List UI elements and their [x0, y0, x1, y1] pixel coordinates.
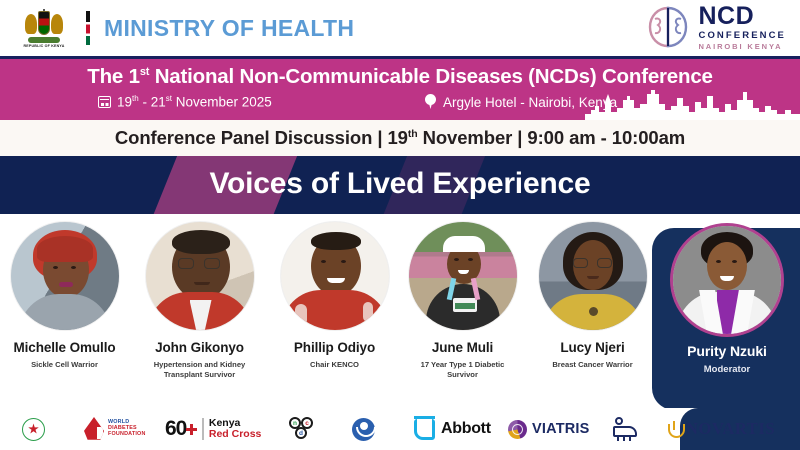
- panelist-card[interactable]: Phillip Odiyo Chair KENCO: [272, 222, 397, 370]
- session-label-ordinal: th: [408, 128, 418, 140]
- panelist-role: Chair KENCO: [272, 360, 397, 370]
- avatar: [673, 226, 781, 334]
- panelist-name: Phillip Odiyo: [272, 340, 397, 355]
- panelist-role: Hypertension and Kidney Transplant Survi…: [137, 360, 262, 381]
- panelists-list: Michelle Omullo Sickle Cell Warrior: [0, 214, 800, 410]
- wdf-wordmark: WORLD DIABETES FOUNDATION: [108, 420, 146, 437]
- avatar: [539, 222, 647, 330]
- avatar: [281, 222, 389, 330]
- panelist-card[interactable]: John Gikonyo Hypertension and Kidney Tra…: [137, 222, 262, 381]
- panelists-section: Michelle Omullo Sickle Cell Warrior: [0, 214, 800, 410]
- panelist-card[interactable]: Lucy Njeri Breast Cancer Warrior: [530, 222, 655, 370]
- shield-icon: [38, 11, 50, 35]
- abbott-wordmark: Abbott: [441, 420, 491, 438]
- blood-drop-icon: [84, 417, 104, 441]
- ncd-conference-logo: NCD CONFERENCE NAIROBI KENYA: [645, 4, 786, 50]
- kenya-red-cross-anniversary: 60: [165, 417, 186, 441]
- sponsor-footer: WORLD DIABETES FOUNDATION 60 Kenya Red C…: [0, 408, 800, 450]
- panelist-role: 17 Year Type 1 Diabetic Survivor: [400, 360, 525, 381]
- ncd-logo-location: NAIROBI KENYA: [698, 43, 786, 51]
- calendar-icon: [98, 96, 111, 108]
- abbott-icon: [414, 419, 435, 440]
- date-month-year: November 2025: [172, 95, 272, 110]
- viatris-globe-icon: [508, 420, 527, 439]
- krc-line2: Red Cross: [209, 429, 262, 440]
- kenya-coat-of-arms: REPUBLIC OF KENYA: [16, 9, 72, 48]
- panelist-role: Breast Cancer Warrior: [530, 360, 655, 370]
- session-label-post: November | 9:00 am - 10:00am: [418, 127, 686, 148]
- kenya-flag-bar-icon: [86, 11, 90, 45]
- ncda-letter-d: d: [295, 427, 307, 439]
- sponsor-logos: WORLD DIABETES FOUNDATION 60 Kenya Red C…: [0, 408, 800, 450]
- who-icon: [352, 418, 375, 441]
- conference-title-post: National Non-Communicable Diseases (NCDs…: [149, 65, 713, 88]
- portrait-michelle: [11, 222, 119, 330]
- ncd-logo-sub: CONFERENCE: [698, 31, 786, 41]
- session-label: Conference Panel Discussion | 19th Novem…: [115, 127, 685, 149]
- session-label-pre: Conference Panel Discussion | 19: [115, 127, 408, 148]
- moh-seal-icon: [22, 418, 45, 441]
- conference-poster: REPUBLIC OF KENYA MINISTRY OF HEALTH NCD…: [0, 0, 800, 450]
- figure-icon: [612, 417, 638, 441]
- avatar: [11, 222, 119, 330]
- coat-base-icon: [28, 37, 60, 43]
- sponsor-viatris[interactable]: VIATRIS: [508, 420, 590, 439]
- conference-title-pre: The 1: [87, 65, 140, 88]
- conference-banner: The 1st National Non-Communicable Diseas…: [0, 56, 800, 120]
- coat-of-arms-caption: REPUBLIC OF KENYA: [23, 44, 64, 48]
- portrait-john: [146, 222, 254, 330]
- ncd-alliance-icon: n c d: [288, 417, 318, 441]
- viatris-wordmark: VIATRIS: [532, 421, 590, 437]
- panelist-role: Sickle Cell Warrior: [2, 360, 127, 370]
- figure-head-icon: [615, 417, 623, 425]
- sponsor-abbott[interactable]: Abbott: [414, 419, 491, 440]
- ncd-logo-main: NCD: [698, 4, 786, 29]
- brain-icon: [645, 5, 691, 49]
- date-start-ordinal: th: [132, 94, 139, 103]
- coat-of-arms-icon: [22, 9, 66, 43]
- panelist-name: Lucy Njeri: [530, 340, 655, 355]
- poster-header: REPUBLIC OF KENYA MINISTRY OF HEALTH NCD…: [0, 0, 800, 56]
- portrait-june: [409, 222, 517, 330]
- panelist-name: John Gikonyo: [137, 340, 262, 355]
- sponsor-novartis[interactable]: NOVARTIS: [668, 419, 775, 439]
- sponsor-world-diabetes-foundation[interactable]: WORLD DIABETES FOUNDATION: [84, 417, 146, 441]
- date-separator: - 21: [139, 95, 166, 110]
- moderator-name: Purity Nzuki: [663, 343, 791, 359]
- lion-left-icon: [25, 14, 37, 34]
- novartis-wordmark: NOVARTIS: [686, 419, 775, 439]
- conference-dates-text: 19th - 21st November 2025: [117, 94, 272, 110]
- sponsor-moh[interactable]: [22, 418, 45, 441]
- panelist-name: June Muli: [400, 340, 525, 355]
- banner-top-rule: [0, 56, 800, 59]
- page-title: Voices of Lived Experience: [0, 167, 800, 201]
- portrait-phillip: [281, 222, 389, 330]
- panelist-name: Michelle Omullo: [2, 340, 127, 355]
- session-strip: Conference Panel Discussion | 19th Novem…: [0, 120, 800, 156]
- title-band: Voices of Lived Experience: [0, 156, 800, 214]
- moderator-card[interactable]: Purity Nzuki Moderator: [663, 226, 791, 377]
- conference-dates: 19th - 21st November 2025: [98, 94, 272, 110]
- conference-title-ordinal: st: [140, 66, 149, 78]
- red-cross-icon: [186, 424, 197, 435]
- sponsor-health-figure[interactable]: [612, 417, 638, 441]
- novartis-flame-icon: [668, 421, 681, 438]
- portrait-lucy: [539, 222, 647, 330]
- ministry-title: MINISTRY OF HEALTH: [104, 15, 354, 42]
- logo-divider: [202, 418, 204, 440]
- portrait-purity: [673, 226, 781, 334]
- avatar: [409, 222, 517, 330]
- panelist-card[interactable]: June Muli 17 Year Type 1 Diabetic Surviv…: [400, 222, 525, 381]
- kenya-red-cross-wordmark: Kenya Red Cross: [209, 418, 262, 439]
- nairobi-skyline-icon: [585, 86, 800, 120]
- lion-right-icon: [51, 14, 63, 34]
- location-pin-icon: [424, 94, 437, 110]
- wdf-line3: FOUNDATION: [108, 432, 146, 438]
- sponsor-who[interactable]: [352, 418, 375, 441]
- panelist-card[interactable]: Michelle Omullo Sickle Cell Warrior: [2, 222, 127, 370]
- moderator-role: Moderator: [663, 364, 791, 377]
- avatar: [146, 222, 254, 330]
- sponsor-ncd-alliance[interactable]: n c d: [288, 417, 318, 441]
- date-start: 19: [117, 95, 132, 110]
- figure-legs-icon: [617, 435, 619, 441]
- sponsor-kenya-red-cross[interactable]: 60 Kenya Red Cross: [165, 417, 261, 441]
